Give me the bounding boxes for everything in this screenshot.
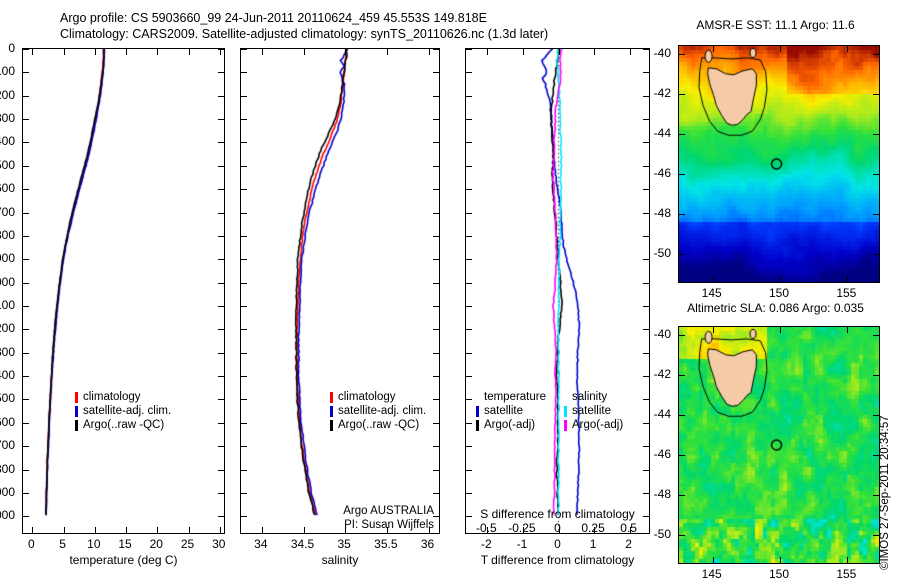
temperature-legend-item-swatch — [75, 392, 78, 403]
axis-tick-mark — [126, 527, 127, 533]
salinity-legend-item-row: climatology — [330, 390, 426, 404]
latitude-tick-mark — [679, 254, 685, 255]
salinity-legend-item-swatch — [330, 420, 333, 431]
difference-legend-item-row: satellite — [476, 404, 546, 418]
salinity-legend-item-swatch — [330, 406, 333, 417]
depth-tick-mark — [433, 493, 439, 494]
depth-tick-mark — [241, 446, 247, 447]
axis-tick-mark — [64, 527, 65, 533]
depth-tick-mark — [466, 376, 472, 377]
salinity-difference-tick-labels: -0.5-0.2500.250.5 — [465, 521, 650, 536]
depth-tick-mark — [218, 166, 224, 167]
depth-tick-mark — [23, 189, 29, 190]
difference-legend-header-temperature: temperature — [476, 390, 546, 404]
sla-map — [678, 326, 880, 564]
salinity-profile-plot — [240, 48, 440, 534]
depth-tick-mark — [23, 399, 29, 400]
s-difference-tick-label: 0.25 — [581, 521, 604, 535]
difference-profile-canvas — [466, 49, 649, 533]
depth-tick-label: 200 — [0, 88, 15, 102]
depth-tick-mark — [433, 306, 439, 307]
depth-tick-label: 1400 — [0, 368, 15, 382]
depth-tick-mark — [23, 49, 29, 50]
axis-tick-mark — [262, 527, 263, 533]
salinity-legend-item-label: climatology — [338, 390, 396, 404]
axis-tick-mark — [95, 527, 96, 533]
depth-tick-mark — [466, 259, 472, 260]
difference-legend-item-row: satellite — [564, 404, 623, 418]
depth-tick-mark — [241, 306, 247, 307]
depth-tick-mark — [433, 353, 439, 354]
temperature-profile-plot — [22, 48, 225, 534]
temperature-legend: climatologysatellite-adj. clim.Argo(..ra… — [75, 390, 171, 432]
depth-tick-mark — [23, 72, 29, 73]
depth-tick-mark — [433, 189, 439, 190]
latitude-tick-label: -50 — [654, 246, 671, 260]
depth-tick-label: 100 — [0, 64, 15, 78]
temperature-tick-label: 25 — [181, 537, 194, 551]
depth-tick-mark — [466, 306, 472, 307]
temperature-legend-item-label: satellite-adj. clim. — [83, 404, 171, 418]
temperature-legend-item-row: climatology — [75, 390, 171, 404]
temperature-tick-label: 0 — [28, 537, 35, 551]
depth-tick-label: 800 — [0, 228, 15, 242]
depth-tick-mark — [241, 142, 247, 143]
temperature-tick-label: 30 — [212, 537, 225, 551]
depth-tick-mark — [466, 166, 472, 167]
depth-tick-mark — [241, 96, 247, 97]
latitude-tick-mark — [873, 254, 879, 255]
temperature-legend-item-label: climatology — [83, 390, 141, 404]
latitude-tick-mark — [679, 495, 685, 496]
latitude-tick-mark — [679, 214, 685, 215]
salinity-tick-label: 35.5 — [374, 537, 397, 551]
depth-tick-label: 900 — [0, 251, 15, 265]
difference-legend-item-swatch — [476, 420, 479, 431]
temperature-difference-tick-labels: -2-1012 — [465, 536, 650, 552]
latitude-tick-mark — [679, 375, 685, 376]
longitude-tick-label: 150 — [769, 567, 789, 581]
depth-tick-mark — [218, 142, 224, 143]
sst-latitude-labels: -40-42-44-46-48-50 — [648, 45, 675, 283]
salinity-axis-tick-labels: 3434.53535.536 — [240, 536, 440, 552]
difference-legend-item-swatch — [564, 406, 567, 417]
latitude-tick-mark — [873, 174, 879, 175]
latitude-tick-label: -40 — [654, 327, 671, 341]
depth-tick-mark — [218, 236, 224, 237]
axis-tick-mark — [345, 49, 346, 55]
depth-tick-mark — [218, 516, 224, 517]
depth-tick-mark — [433, 96, 439, 97]
depth-tick-mark — [218, 189, 224, 190]
depth-tick-mark — [466, 423, 472, 424]
salinity-difference-axis-label: S difference from climatology — [458, 507, 657, 521]
depth-tick-mark — [433, 259, 439, 260]
longitude-tick-label: 150 — [769, 286, 789, 300]
temperature-tick-label: 20 — [150, 537, 163, 551]
copyright-text: ©IMOS 27-Sep-2011 20:34:57 — [879, 330, 891, 570]
depth-tick-mark — [241, 423, 247, 424]
depth-tick-mark — [433, 423, 439, 424]
depth-tick-mark — [241, 353, 247, 354]
longitude-tick-mark — [780, 327, 781, 333]
longitude-tick-mark — [847, 276, 848, 282]
axis-tick-mark — [189, 527, 190, 533]
depth-tick-mark — [466, 72, 472, 73]
depth-tick-mark — [433, 399, 439, 400]
depth-tick-mark — [218, 329, 224, 330]
axis-tick-mark — [262, 49, 263, 55]
axis-tick-mark — [429, 49, 430, 55]
axis-tick-mark — [157, 527, 158, 533]
difference-legend-item-row: Argo(-adj) — [564, 418, 623, 432]
sst-map-title: AMSR-E SST: 11.1 Argo: 11.6 — [668, 18, 883, 32]
salinity-legend-item-label: satellite-adj. clim. — [338, 404, 426, 418]
depth-tick-mark — [433, 166, 439, 167]
longitude-tick-mark — [780, 276, 781, 282]
depth-tick-mark — [466, 399, 472, 400]
depth-tick-mark — [23, 470, 29, 471]
temperature-profile-canvas — [23, 49, 224, 533]
depth-tick-mark — [466, 353, 472, 354]
figure-title-line2: Climatology: CARS2009. Satellite-adjuste… — [60, 27, 548, 41]
depth-tick-mark — [23, 493, 29, 494]
longitude-tick-mark — [713, 46, 714, 52]
latitude-tick-label: -46 — [654, 447, 671, 461]
depth-tick-label: 1700 — [0, 438, 15, 452]
sla-map-canvas — [679, 327, 879, 563]
longitude-tick-mark — [847, 46, 848, 52]
depth-tick-mark — [23, 353, 29, 354]
depth-tick-mark — [241, 493, 247, 494]
depth-tick-mark — [433, 142, 439, 143]
depth-tick-mark — [241, 166, 247, 167]
figure-title-line1: Argo profile: CS 5903660_99 24-Jun-2011 … — [60, 11, 487, 25]
depth-tick-mark — [466, 189, 472, 190]
depth-tick-mark — [466, 493, 472, 494]
depth-tick-mark — [23, 236, 29, 237]
t-difference-tick-label: -2 — [481, 537, 492, 551]
depth-tick-label: 300 — [0, 111, 15, 125]
depth-tick-mark — [218, 470, 224, 471]
difference-legend-item-swatch — [564, 420, 567, 431]
latitude-tick-mark — [679, 335, 685, 336]
depth-tick-mark — [433, 329, 439, 330]
depth-tick-mark — [466, 142, 472, 143]
depth-tick-mark — [23, 259, 29, 260]
depth-tick-mark — [218, 423, 224, 424]
depth-tick-label: 2000 — [0, 508, 15, 522]
depth-tick-mark — [241, 49, 247, 50]
depth-tick-mark — [218, 376, 224, 377]
difference-profile-plot — [465, 48, 650, 534]
depth-tick-label: 500 — [0, 158, 15, 172]
sla-map-title: Altimetric SLA: 0.086 Argo: 0.035 — [668, 301, 883, 315]
temperature-legend-item-row: Argo(..raw -QC) — [75, 418, 171, 432]
depth-tick-mark — [218, 283, 224, 284]
temperature-legend-item-swatch — [75, 420, 78, 431]
temperature-tick-label: 10 — [87, 537, 100, 551]
depth-tick-label: 1500 — [0, 391, 15, 405]
longitude-tick-mark — [847, 327, 848, 333]
depth-tick-mark — [218, 96, 224, 97]
t-difference-tick-label: -1 — [517, 537, 528, 551]
depth-tick-mark — [23, 376, 29, 377]
depth-tick-mark — [466, 236, 472, 237]
t-difference-tick-label: 1 — [590, 537, 597, 551]
sst-longitude-labels: 145150155 — [678, 285, 880, 301]
depth-tick-mark — [466, 446, 472, 447]
salinity-legend-item-row: satellite-adj. clim. — [330, 404, 426, 418]
latitude-tick-label: -44 — [654, 407, 671, 421]
sla-latitude-labels: -40-42-44-46-48-50 — [648, 326, 675, 564]
depth-tick-label: 1900 — [0, 485, 15, 499]
latitude-tick-mark — [679, 535, 685, 536]
depth-tick-mark — [23, 119, 29, 120]
axis-tick-mark — [220, 49, 221, 55]
depth-tick-mark — [23, 96, 29, 97]
temperature-axis-label: temperature (deg C) — [22, 553, 225, 567]
longitude-tick-mark — [713, 557, 714, 563]
difference-legend: temperaturesatelliteArgo(-adj)salinitysa… — [476, 390, 623, 432]
longitude-tick-mark — [713, 327, 714, 333]
depth-tick-mark — [241, 399, 247, 400]
depth-tick-mark — [433, 446, 439, 447]
t-difference-tick-label: 0 — [554, 537, 561, 551]
difference-legend-column-temperature: temperaturesatelliteArgo(-adj) — [476, 390, 546, 432]
t-difference-tick-label: 2 — [625, 537, 632, 551]
latitude-tick-mark — [873, 214, 879, 215]
latitude-tick-label: -48 — [654, 487, 671, 501]
axis-tick-mark — [594, 49, 595, 55]
axis-tick-mark — [304, 49, 305, 55]
depth-tick-mark — [218, 399, 224, 400]
depth-tick-mark — [466, 119, 472, 120]
latitude-tick-mark — [873, 54, 879, 55]
temperature-tick-label: 5 — [59, 537, 66, 551]
depth-tick-label: 1300 — [0, 345, 15, 359]
depth-tick-mark — [23, 142, 29, 143]
latitude-tick-mark — [679, 174, 685, 175]
credit-line2: PI: Susan Wijffels — [344, 519, 434, 531]
temperature-legend-item-row: satellite-adj. clim. — [75, 404, 171, 418]
latitude-tick-mark — [873, 134, 879, 135]
axis-tick-mark — [157, 49, 158, 55]
difference-legend-item-row: Argo(-adj) — [476, 418, 546, 432]
depth-tick-mark — [241, 283, 247, 284]
salinity-legend-item-row: Argo(..raw -QC) — [330, 418, 426, 432]
depth-tick-mark — [433, 236, 439, 237]
depth-tick-mark — [241, 119, 247, 120]
difference-legend-header-salinity: salinity — [564, 390, 623, 404]
depth-tick-label: 1000 — [0, 275, 15, 289]
depth-tick-mark — [23, 516, 29, 517]
depth-tick-mark — [433, 283, 439, 284]
depth-tick-mark — [241, 516, 247, 517]
depth-tick-mark — [218, 446, 224, 447]
depth-tick-mark — [23, 283, 29, 284]
depth-axis-labels-temperature: 0100200300400500600700800900100011001200… — [0, 48, 19, 534]
axis-tick-mark — [95, 49, 96, 55]
longitude-tick-mark — [847, 557, 848, 563]
axis-tick-mark — [387, 49, 388, 55]
depth-tick-mark — [218, 353, 224, 354]
depth-tick-mark — [23, 423, 29, 424]
s-difference-tick-label: -0.5 — [476, 521, 497, 535]
depth-tick-mark — [241, 329, 247, 330]
latitude-tick-mark — [679, 415, 685, 416]
latitude-tick-mark — [679, 94, 685, 95]
depth-tick-mark — [23, 213, 29, 214]
figure-credit: Argo AUSTRALIAPI: Susan Wijffels — [290, 504, 434, 532]
salinity-tick-label: 34.5 — [291, 537, 314, 551]
depth-tick-mark — [23, 446, 29, 447]
depth-tick-label: 1200 — [0, 321, 15, 335]
depth-tick-mark — [241, 72, 247, 73]
difference-legend-item-label: satellite — [572, 404, 611, 418]
depth-tick-mark — [241, 259, 247, 260]
salinity-tick-label: 35 — [337, 537, 350, 551]
salinity-tick-label: 36 — [421, 537, 434, 551]
salinity-tick-label: 34 — [254, 537, 267, 551]
depth-tick-mark — [218, 259, 224, 260]
depth-tick-mark — [433, 49, 439, 50]
salinity-legend-item-label: Argo(..raw -QC) — [338, 418, 419, 432]
sst-map-canvas — [679, 46, 879, 282]
latitude-tick-label: -40 — [654, 46, 671, 60]
longitude-tick-mark — [780, 557, 781, 563]
depth-tick-label: 1100 — [0, 298, 15, 312]
axis-tick-mark — [32, 49, 33, 55]
depth-tick-mark — [433, 470, 439, 471]
latitude-tick-label: -44 — [654, 126, 671, 140]
depth-tick-mark — [241, 213, 247, 214]
depth-tick-mark — [643, 306, 649, 307]
difference-legend-item-swatch — [476, 406, 479, 417]
longitude-tick-mark — [713, 276, 714, 282]
depth-tick-mark — [241, 470, 247, 471]
depth-tick-label: 600 — [0, 181, 15, 195]
s-difference-tick-label: -0.25 — [508, 521, 535, 535]
latitude-tick-mark — [679, 455, 685, 456]
axis-tick-mark — [523, 49, 524, 55]
depth-tick-label: 400 — [0, 134, 15, 148]
depth-tick-label: 700 — [0, 205, 15, 219]
latitude-tick-label: -50 — [654, 527, 671, 541]
figure-title: Argo profile: CS 5903660_99 24-Jun-2011 … — [60, 10, 680, 42]
difference-legend-item-label: Argo(-adj) — [484, 418, 535, 432]
salinity-legend: climatologysatellite-adj. clim.Argo(..ra… — [330, 390, 426, 432]
longitude-tick-label: 145 — [702, 567, 722, 581]
axis-tick-mark — [559, 49, 560, 55]
s-difference-tick-label: 0 — [554, 521, 561, 535]
depth-tick-mark — [466, 49, 472, 50]
axis-tick-mark — [189, 49, 190, 55]
difference-legend-item-label: Argo(-adj) — [572, 418, 623, 432]
s-difference-tick-label: 0.5 — [620, 521, 637, 535]
depth-tick-mark — [433, 376, 439, 377]
sst-map — [678, 45, 880, 283]
depth-tick-mark — [23, 306, 29, 307]
salinity-axis-label: salinity — [240, 553, 440, 567]
latitude-tick-label: -48 — [654, 206, 671, 220]
latitude-tick-label: -46 — [654, 166, 671, 180]
depth-tick-label: 1600 — [0, 415, 15, 429]
latitude-tick-label: -42 — [654, 367, 671, 381]
depth-tick-mark — [23, 166, 29, 167]
depth-tick-mark — [466, 329, 472, 330]
difference-legend-item-label: satellite — [484, 404, 523, 418]
depth-tick-label: 0 — [8, 41, 15, 55]
depth-tick-mark — [433, 72, 439, 73]
depth-tick-mark — [218, 119, 224, 120]
axis-tick-mark — [220, 527, 221, 533]
depth-tick-mark — [433, 213, 439, 214]
depth-tick-label: 1800 — [0, 462, 15, 476]
temperature-difference-axis-label: T difference from climatology — [458, 553, 657, 567]
depth-tick-mark — [23, 329, 29, 330]
depth-tick-mark — [241, 189, 247, 190]
difference-legend-column-salinity: salinitysatelliteArgo(-adj) — [564, 390, 623, 432]
temperature-axis-tick-labels: 051015202530 — [22, 536, 225, 552]
credit-line1: Argo AUSTRALIA — [343, 505, 434, 517]
depth-tick-mark — [218, 493, 224, 494]
axis-tick-mark — [126, 49, 127, 55]
depth-tick-mark — [218, 306, 224, 307]
temperature-tick-label: 15 — [118, 537, 131, 551]
depth-tick-mark — [466, 283, 472, 284]
copyright-notice: ©IMOS 27-Sep-2011 20:34:57 — [879, 330, 895, 570]
salinity-legend-item-swatch — [330, 392, 333, 403]
axis-tick-mark — [32, 527, 33, 533]
depth-tick-mark — [241, 376, 247, 377]
latitude-tick-label: -42 — [654, 86, 671, 100]
axis-tick-mark — [487, 49, 488, 55]
salinity-profile-canvas — [241, 49, 439, 533]
depth-tick-mark — [218, 72, 224, 73]
latitude-tick-mark — [873, 94, 879, 95]
longitude-tick-label: 155 — [836, 567, 856, 581]
longitude-tick-mark — [780, 46, 781, 52]
temperature-legend-item-swatch — [75, 406, 78, 417]
axis-tick-mark — [64, 49, 65, 55]
depth-tick-mark — [241, 236, 247, 237]
depth-tick-mark — [466, 213, 472, 214]
depth-tick-mark — [466, 470, 472, 471]
depth-tick-mark — [218, 213, 224, 214]
axis-tick-mark — [630, 49, 631, 55]
temperature-legend-item-label: Argo(..raw -QC) — [83, 418, 164, 432]
latitude-tick-mark — [679, 54, 685, 55]
longitude-tick-label: 145 — [702, 286, 722, 300]
depth-tick-mark — [466, 96, 472, 97]
depth-tick-mark — [433, 119, 439, 120]
longitude-tick-label: 155 — [836, 286, 856, 300]
latitude-tick-mark — [679, 134, 685, 135]
